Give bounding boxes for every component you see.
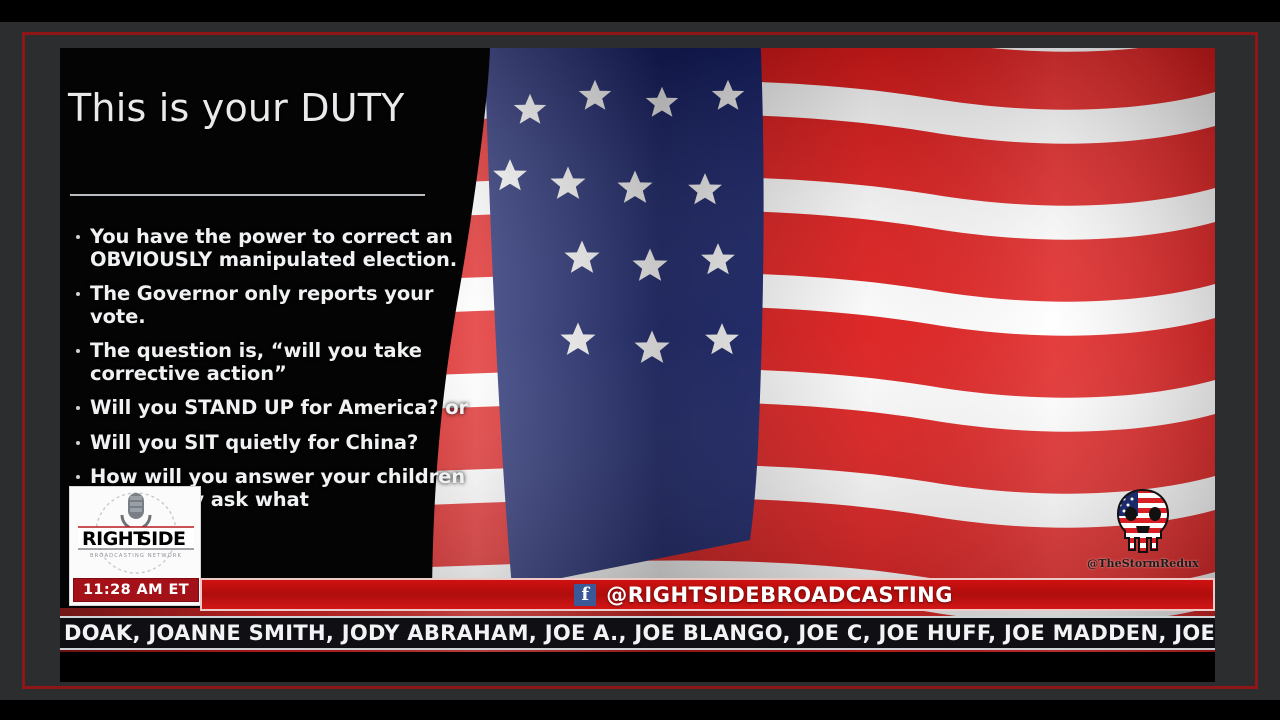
ticker-underbar (60, 652, 1215, 682)
slide-title: This is your DUTY (68, 86, 405, 130)
rsbn-logo-art: RIGHT SIDE BROADCASTING NETWORK (70, 487, 202, 578)
slide-divider (70, 194, 425, 196)
social-handle: @RIGHTSIDEBROADCASTING (606, 583, 953, 607)
svg-text:RIGHT: RIGHT (82, 528, 146, 550)
rsbn-logo-bug: RIGHT SIDE BROADCASTING NETWORK 11:28 AM… (69, 486, 201, 606)
list-item: You have the power to correct an OBVIOUS… (74, 226, 494, 271)
screenshot-root: This is your DUTY You have the power to … (0, 0, 1280, 720)
social-handle-banner: f @RIGHTSIDEBROADCASTING (200, 578, 1215, 611)
watermark-handle: @TheStormRedux (1087, 557, 1199, 570)
storm-redux-watermark: @TheStormRedux (1089, 488, 1197, 580)
slide-bullet-list: You have the power to correct an OBVIOUS… (74, 226, 494, 523)
punisher-skull-flag-icon (1106, 488, 1180, 554)
broadcast-time-bar: 11:28 AM ET (73, 578, 199, 602)
list-item: The question is, “will you take correcti… (74, 340, 494, 385)
video-surface[interactable]: This is your DUTY You have the power to … (60, 48, 1215, 682)
svg-text:BROADCASTING NETWORK: BROADCASTING NETWORK (90, 553, 182, 559)
list-item: Will you STAND UP for America? or (74, 397, 494, 420)
svg-text:SIDE: SIDE (138, 528, 186, 550)
news-ticker: DOAK, JOANNE SMITH, JODY ABRAHAM, JOE A.… (60, 616, 1215, 650)
list-item: The Governor only reports your vote. (74, 283, 494, 328)
list-item: Will you SIT quietly for China? (74, 432, 494, 455)
ticker-text: DOAK, JOANNE SMITH, JODY ABRAHAM, JOE A.… (64, 621, 1215, 645)
facebook-icon: f (574, 584, 596, 606)
broadcast-time: 11:28 AM ET (83, 582, 189, 598)
